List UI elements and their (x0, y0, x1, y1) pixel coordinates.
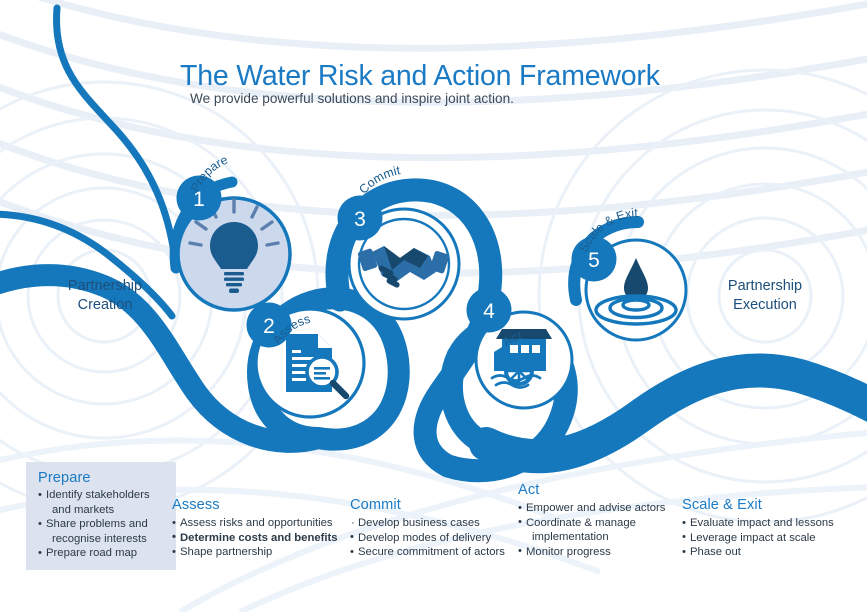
legend-scale-exit-title: Scale & Exit (682, 497, 854, 513)
legend-item: Identify stakeholders (38, 488, 166, 502)
legend-item: Develop business cases (350, 516, 522, 530)
page-title: The Water Risk and Action Framework (180, 60, 660, 93)
legend-scale-exit: Scale & Exit Evaluate impact and lessons… (682, 497, 854, 560)
legend-item: Prepare road map (38, 546, 166, 560)
legend-assess: Assess Assess risks and opportunitiesDet… (172, 497, 342, 560)
legend-prepare-list: Identify stakeholdersand marketsShare pr… (38, 488, 166, 560)
legend-scale-exit-list: Evaluate impact and lessonsLeverage impa… (682, 516, 854, 559)
legend-item: Develop modes of delivery (350, 531, 522, 545)
partnership-execution-line2: Execution (702, 296, 828, 315)
legend-commit-list: Develop business casesDevelop modes of d… (350, 516, 522, 559)
legend-item: Phase out (682, 545, 854, 559)
legend-item: Secure commitment of actors (350, 545, 522, 559)
partnership-creation-label: Partnership Creation (44, 277, 166, 315)
partnership-execution-line1: Partnership (702, 277, 828, 296)
legend-item: Monitor progress (518, 545, 680, 559)
legend-item: Leverage impact at scale (682, 531, 854, 545)
step-3-number: 3 (354, 208, 366, 231)
partnership-creation-line1: Partnership (44, 277, 166, 296)
legend-item: recognise interests (38, 532, 166, 546)
step-4-number: 4 (483, 300, 495, 323)
legend-item: Assess risks and opportunities (172, 516, 342, 530)
partnership-execution-label: Partnership Execution (702, 277, 828, 315)
legend-item: and markets (38, 503, 166, 517)
page-subtitle: We provide powerful solutions and inspir… (190, 91, 514, 106)
legend-act-list: Empower and advise actorsCoordinate & ma… (518, 501, 680, 559)
partnership-creation-line2: Creation (44, 296, 166, 315)
legend-item: Share problems and (38, 517, 166, 531)
legend-item: Coordinate & manage (518, 516, 680, 530)
legend-item: Evaluate impact and lessons (682, 516, 854, 530)
legend-item: implementation (518, 530, 680, 544)
legend-item: Shape partnership (172, 545, 342, 559)
legend-act-title: Act (518, 482, 680, 498)
legend-assess-list: Assess risks and opportunitiesDetermine … (172, 516, 342, 559)
legend-prepare: Prepare Identify stakeholdersand markets… (26, 462, 176, 570)
legend-prepare-title: Prepare (38, 470, 166, 486)
legend-item: Empower and advise actors (518, 501, 680, 515)
legend-item: Determine costs and benefits (172, 531, 342, 545)
legend-act: Act Empower and advise actorsCoordinate … (518, 482, 680, 559)
legend-assess-title: Assess (172, 497, 342, 513)
legend-commit-title: Commit (350, 497, 522, 513)
infographic-canvas: 1 Prepare (0, 0, 867, 612)
legend-commit: Commit Develop business casesDevelop mod… (350, 497, 522, 560)
